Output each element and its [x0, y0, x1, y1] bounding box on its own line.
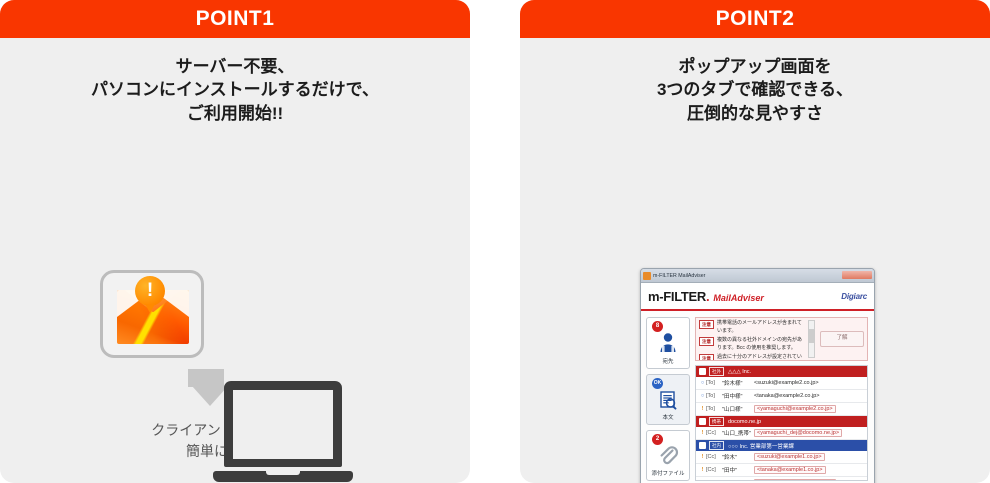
row-display-name: "山口様" [722, 405, 754, 413]
point1-panel: POINT1 サーバー不要、 パソコンにインストールするだけで、 ご利用開始!!… [0, 0, 470, 483]
row-email: <tanaka@example2.co.jp> [754, 393, 820, 399]
row-status-icon: ! [699, 480, 706, 481]
row-email: <tanaka@example1.co.jp> [754, 466, 826, 474]
group-header-mobile: 携帯 docomo.ne.jp [696, 416, 867, 427]
row-field: [Cc] [706, 454, 722, 460]
brand-bar: m-FILTER. MailAdviser Digiarc [641, 283, 874, 311]
warning-ack-button[interactable]: 了解 [820, 331, 864, 347]
row-status-icon: ○ [699, 393, 706, 399]
row-status-icon: ! [699, 406, 706, 412]
row-email: <yamaguchi@example2.co.jp> [754, 405, 836, 413]
recipient-row[interactable]: ! [Cc] "田中" <tanaka@example1.co.jp> [696, 464, 867, 477]
person-recipients-icon [647, 328, 689, 358]
app-icon [643, 272, 651, 280]
group-name: ○○○ Inc. 営業部第一営業課 [728, 442, 794, 450]
point2-header: POINT2 [520, 0, 990, 38]
row-display-name: "山口" [722, 479, 754, 481]
row-display-name: "鈴木様" [722, 379, 754, 387]
row-field: [Cc] [706, 467, 722, 473]
recipient-list: 社外 △△△ Inc. ○ [To] "鈴木様" <suzuki@example… [695, 365, 868, 481]
point2-panel: POINT2 ポップアップ画面を 3つのタブで確認できる、 圧倒的な見やすさ m… [520, 0, 990, 483]
group-name: △△△ Inc. [728, 369, 751, 375]
window-controls[interactable] [842, 271, 872, 279]
recipient-row[interactable]: ○ [To] "鈴木様" <suzuki@example2.co.jp> [696, 377, 867, 390]
tab-recipients[interactable]: 8 宛先 [646, 317, 690, 368]
warning-tag: 注意 [699, 337, 714, 346]
row-field: [Cc] [706, 480, 722, 481]
group-external-icon [699, 368, 706, 375]
row-status-icon: ! [699, 454, 706, 460]
points-comparison: POINT1 サーバー不要、 パソコンにインストールするだけで、 ご利用開始!!… [0, 0, 990, 483]
window-titlebar: m-FILTER MailAdviser [641, 269, 874, 283]
warning-list: 注意 携帯電話のメールアドレスが含まれています。 注意 複数の異なる社外ドメイン… [699, 320, 808, 358]
tab-attachments[interactable]: 2 添付ファイル [646, 430, 690, 481]
row-display-name: "田中" [722, 466, 754, 474]
row-field: [To] [706, 380, 722, 386]
recipient-row[interactable]: ! [Cc] "山口" <yamaguchi@example1.co.jp> [696, 477, 867, 481]
group-internal-icon [699, 442, 706, 449]
recipient-row[interactable]: ! [Cc] "山口_携帯" <yamaguchi_dej@docomo.ne.… [696, 427, 867, 440]
mobile-domain-icon [699, 418, 706, 425]
window-title: m-FILTER MailAdviser [653, 273, 705, 279]
warning-tag: 注意 [699, 354, 714, 361]
tab-rail: 8 宛先 [646, 317, 690, 481]
laptop-icon [224, 381, 342, 482]
warning-item: 注意 複数の異なる社外ドメインの宛先があります。Bcc の使用を推奨します。 [699, 337, 806, 352]
alert-mail-icon: ! [100, 270, 204, 358]
mailadviser-app-screenshot: m-FILTER MailAdviser m-FILTER. MailAdvis… [640, 268, 875, 483]
point2-title: ポップアップ画面を 3つのタブで確認できる、 圧倒的な見やすさ [520, 55, 990, 125]
warning-text: 複数の異なる社外ドメインの宛先があります。Bcc の使用を推奨します。 [717, 337, 806, 352]
point2-illustration: m-FILTER MailAdviser m-FILTER. MailAdvis… [520, 125, 990, 420]
recipient-row[interactable]: ! [To] "山口様" <yamaguchi@example2.co.jp> [696, 403, 867, 416]
point1-illustration: ! [0, 125, 470, 420]
tab-body[interactable]: OK [646, 374, 690, 425]
row-email: <suzuki@example1.co.jp> [754, 453, 825, 461]
point1-header: POINT1 [0, 0, 470, 38]
warning-panel: 注意 携帯電話のメールアドレスが含まれています。 注意 複数の異なる社外ドメイン… [695, 317, 868, 361]
vendor-logo: Digiarc [841, 292, 867, 301]
group-header-internal: 社内 ○○○ Inc. 営業部第一営業課 [696, 440, 867, 451]
recipient-row[interactable]: ! [Cc] "鈴木" <suzuki@example1.co.jp> [696, 451, 867, 464]
row-email: <yamaguchi_dej@docomo.ne.jp> [754, 429, 842, 437]
group-tag: 社外 [709, 367, 724, 376]
row-status-icon: ○ [699, 380, 706, 386]
product-logo: m-FILTER. [648, 289, 709, 304]
warning-text: 携帯電話のメールアドレスが含まれています。 [717, 320, 806, 335]
paperclip-icon [647, 441, 689, 471]
warning-item: 注意 携帯電話のメールアドレスが含まれています。 [699, 320, 806, 335]
row-display-name: "鈴木" [722, 453, 754, 461]
warning-item: 注意 過去に十分のアドレスが設定されていません。 [699, 354, 806, 361]
group-header-external: 社外 △△△ Inc. [696, 366, 867, 377]
group-tag: 携帯 [709, 417, 724, 426]
row-email: <yamaguchi@example1.co.jp> [754, 479, 836, 481]
row-status-icon: ! [699, 467, 706, 473]
warning-text: 過去に十分のアドレスが設定されていません。 [717, 354, 806, 361]
warning-scrollbar[interactable] [808, 320, 815, 358]
row-field: [Cc] [706, 430, 722, 436]
row-field: [To] [706, 393, 722, 399]
module-name: MailAdviser [713, 293, 764, 303]
recipient-row[interactable]: ○ [To] "田中様" <tanaka@example2.co.jp> [696, 390, 867, 403]
document-magnifier-icon [647, 385, 689, 415]
row-display-name: "山口_携帯" [722, 429, 754, 437]
warning-tag: 注意 [699, 320, 714, 329]
point1-title: サーバー不要、 パソコンにインストールするだけで、 ご利用開始!! [0, 55, 470, 125]
group-tag: 社内 [709, 441, 724, 450]
row-display-name: "田中様" [722, 392, 754, 400]
group-name: docomo.ne.jp [728, 419, 761, 425]
row-status-icon: ! [699, 430, 706, 436]
row-email: <suzuki@example2.co.jp> [754, 380, 819, 386]
row-field: [To] [706, 406, 722, 412]
